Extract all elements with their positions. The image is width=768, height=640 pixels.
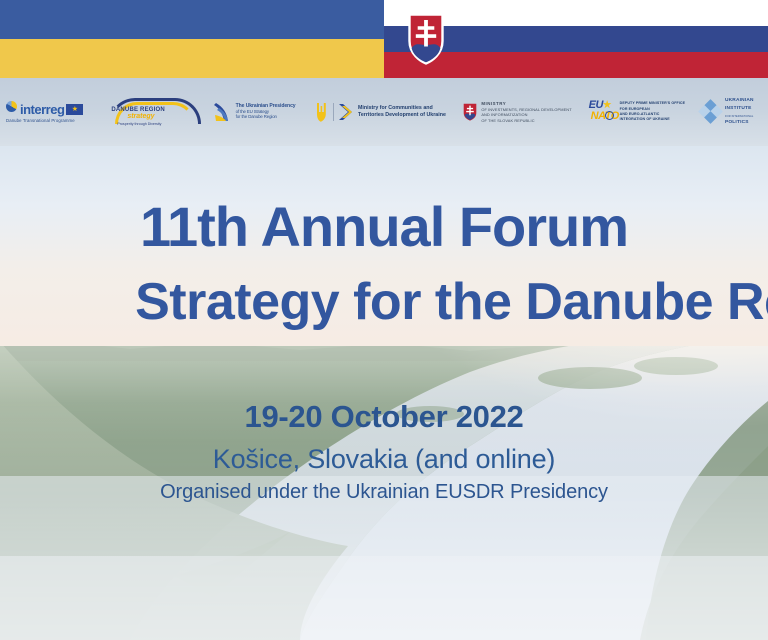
danube-tagline: Prosperity through Diversity (117, 122, 161, 126)
logo-ukrainian-institute-politics[interactable]: UKRAINIAN INSTITUTE FOR INTERNATIONAL PO… (700, 97, 762, 127)
uip-line3: FOR INTERNATIONAL (725, 115, 753, 118)
event-location: Košice, Slovakia (and online) (0, 444, 768, 475)
uip-line1: UKRAINIAN (725, 98, 754, 103)
hero-text-block: 11th Annual Forum Strategy for the Danub… (0, 146, 768, 640)
flag-band (0, 0, 768, 78)
institute-diamond-icon (700, 101, 722, 123)
msk-heading: MINISTRY (481, 101, 506, 106)
slovak-ministry-shield-icon (463, 103, 477, 121)
ukraine-flag (0, 0, 384, 78)
logo-ministry-communities-ukraine[interactable]: Ministry for Communities and Territories… (316, 102, 456, 122)
nato-line2: FOR EUROPEAN (620, 107, 650, 111)
nato-line3: AND EURO-ATLANTIC (620, 112, 660, 116)
partner-logo-bar: interreg Danube Transnational Programme … (0, 78, 768, 146)
logo-eu-nato-office[interactable]: EU NATO DEPUTY PRIME MINISTER'S OFFICE F… (589, 99, 693, 125)
interreg-wordmark-row: interreg (6, 102, 83, 117)
nato-line1: DEPUTY PRIME MINISTER'S OFFICE (620, 101, 686, 105)
msk-line2: AND INFORMATIZATION (481, 112, 527, 117)
interreg-wordmark: interreg (20, 102, 64, 117)
interreg-subtitle: Danube Transnational Programme (6, 118, 75, 123)
event-date: 19-20 October 2022 (0, 399, 768, 435)
logo-danube-region-strategy[interactable]: DANUBE REGION strategy Prosperity throug… (105, 92, 205, 132)
mcu-line1: Ministry for Communities and (358, 105, 433, 111)
presidency-line3: for the Danube Region (236, 114, 277, 119)
uip-line4: POLITICS (725, 120, 749, 125)
presidency-wave-icon (213, 100, 233, 124)
slovakia-coat-of-arms-icon (408, 13, 444, 65)
ukraine-flag-blue-stripe (0, 0, 384, 39)
ukraine-flag-yellow-stripe (0, 39, 384, 78)
eu-star-icon (603, 100, 612, 109)
logo-ministry-investments-slovak[interactable]: MINISTRY OF INVESTMENTS, REGIONAL DEVELO… (463, 101, 581, 124)
eu-flag-icon (66, 104, 83, 115)
logo-ukrainian-presidency[interactable]: The Ukrainian Presidency of the EU Strat… (213, 100, 309, 124)
forum-title-line1: 11th Annual Forum (0, 194, 768, 259)
nato-ring-icon (605, 111, 614, 120)
slovakia-flag (384, 0, 768, 78)
ministry-communities-text: Ministry for Communities and Territories… (358, 105, 446, 119)
institute-text: UKRAINIAN INSTITUTE FOR INTERNATIONAL PO… (725, 97, 754, 127)
msk-line1: OF INVESTMENTS, REGIONAL DEVELOPMENT (481, 107, 571, 112)
presidency-text: The Ukrainian Presidency of the EU Strat… (236, 104, 296, 119)
ukraine-trident-icon (316, 102, 329, 122)
eu-nato-office-text: DEPUTY PRIME MINISTER'S OFFICE FOR EUROP… (620, 101, 686, 123)
eu-nato-mark-icon: EU NATO (589, 99, 617, 125)
interreg-swoosh-icon (6, 101, 17, 112)
forum-title-line2: Strategy for the Danube Regio (118, 272, 768, 332)
danube-strategy-label: strategy (127, 113, 154, 120)
logo-divider (333, 103, 334, 121)
nato-line4: INTEGRATION OF UKRAINE (620, 117, 670, 121)
event-organiser: Organised under the Ukrainian EUSDR Pres… (0, 481, 768, 504)
chevron-arrow-icon (338, 103, 354, 121)
mcu-line2: Territories Development of Ukraine (358, 112, 446, 118)
uip-line2: INSTITUTE (725, 106, 752, 111)
logo-interreg[interactable]: interreg Danube Transnational Programme (6, 102, 98, 123)
ministry-slovak-text: MINISTRY OF INVESTMENTS, REGIONAL DEVELO… (481, 101, 571, 124)
msk-line3: OF THE SLOVAK REPUBLIC (481, 118, 534, 123)
hero-banner: 11th Annual Forum Strategy for the Danub… (0, 146, 768, 640)
